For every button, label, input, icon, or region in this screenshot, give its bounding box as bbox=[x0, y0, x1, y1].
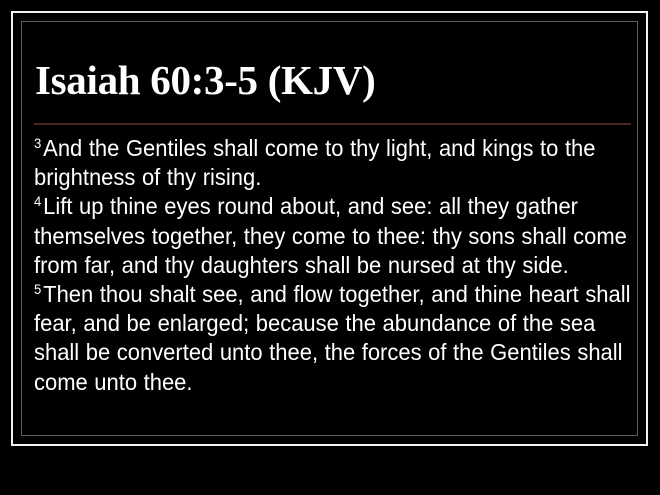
verse-number: 3 bbox=[34, 135, 43, 151]
scripture-body: 3And the Gentiles shall come to thy ligh… bbox=[34, 134, 637, 397]
verse-text: Then thou shalt see, and flow together, … bbox=[34, 281, 631, 395]
verse-paragraph: 4Lift up thine eyes round about, and see… bbox=[34, 192, 637, 280]
presentation-slide: Isaiah 60:3-5 (KJV) 3And the Gentiles sh… bbox=[0, 0, 660, 495]
title-divider bbox=[34, 123, 631, 125]
verse-paragraph: 3And the Gentiles shall come to thy ligh… bbox=[34, 134, 637, 192]
verse-text: Lift up thine eyes round about, and see:… bbox=[34, 193, 627, 277]
verse-text: And the Gentiles shall come to thy light… bbox=[34, 135, 595, 190]
slide-content: Isaiah 60:3-5 (KJV) 3And the Gentiles sh… bbox=[13, 13, 646, 444]
verse-paragraph: 5Then thou shalt see, and flow together,… bbox=[34, 280, 637, 397]
slide-frame-outer: Isaiah 60:3-5 (KJV) 3And the Gentiles sh… bbox=[11, 11, 648, 446]
verse-number: 4 bbox=[34, 193, 43, 209]
page-title: Isaiah 60:3-5 (KJV) bbox=[35, 57, 625, 103]
verse-number: 5 bbox=[34, 281, 43, 297]
